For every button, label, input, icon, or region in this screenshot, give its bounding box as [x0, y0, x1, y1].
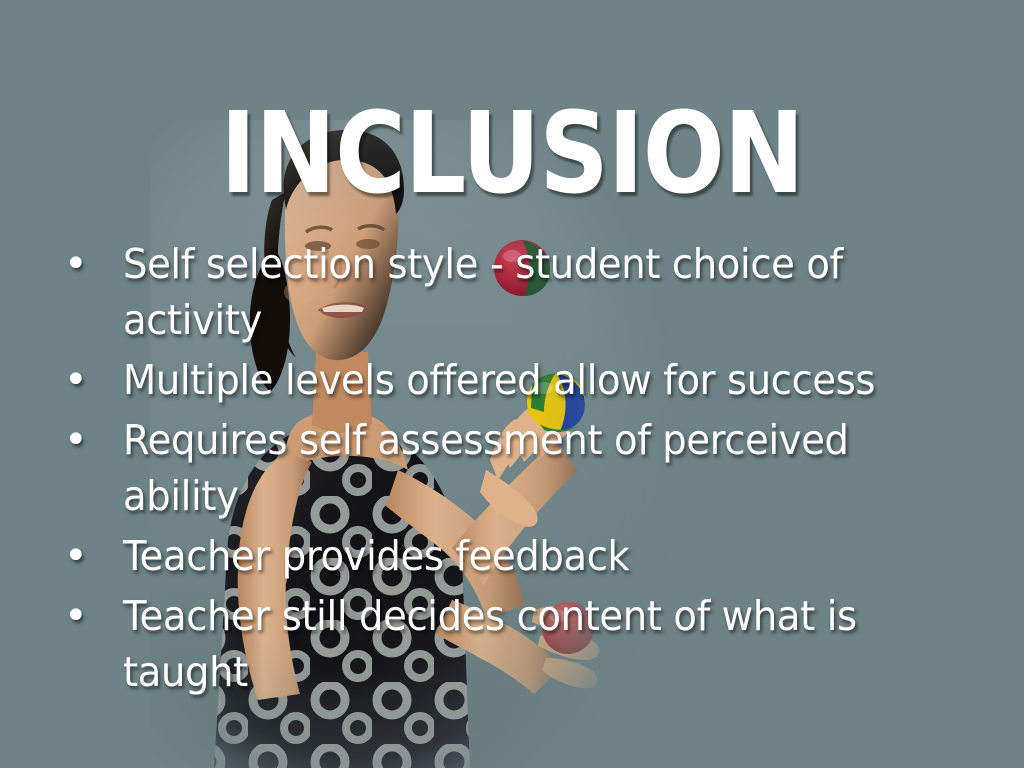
- bullet-marker-icon: •: [55, 528, 123, 584]
- list-item: • Self selection style - student choice …: [55, 236, 970, 348]
- list-item-label: Multiple levels offered allow for succes…: [123, 352, 919, 408]
- list-item: • Teacher provides feedback: [55, 528, 970, 584]
- list-item-label: Self selection style - student choice of…: [123, 236, 919, 348]
- bullet-marker-icon: •: [55, 236, 123, 292]
- bullet-marker-icon: •: [55, 588, 123, 644]
- page-title: INCLUSION: [72, 97, 953, 211]
- bullet-marker-icon: •: [55, 412, 123, 468]
- list-item: • Requires self assessment of perceived …: [55, 412, 970, 524]
- list-item: • Teacher still decides content of what …: [55, 588, 970, 700]
- list-item: • Multiple levels offered allow for succ…: [55, 352, 970, 408]
- list-item-label: Requires self assessment of perceived ab…: [123, 412, 919, 524]
- list-item-label: Teacher provides feedback: [123, 528, 919, 584]
- presentation-slide: INCLUSION • Self selection style - stude…: [0, 0, 1024, 768]
- bullet-marker-icon: •: [55, 352, 123, 408]
- list-item-label: Teacher still decides content of what is…: [123, 588, 919, 700]
- bullet-list: • Self selection style - student choice …: [55, 236, 970, 704]
